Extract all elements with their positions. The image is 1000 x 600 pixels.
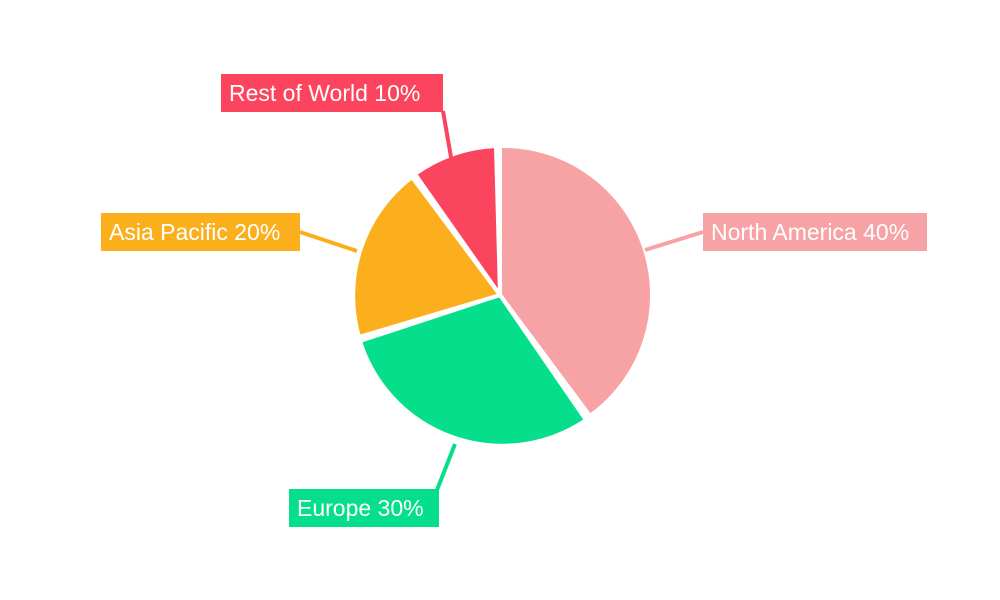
- leader-line-asia-pacific: [300, 232, 357, 251]
- pie-label-europe[interactable]: Europe 30%: [289, 489, 439, 527]
- pie-slices-group: [353, 146, 652, 446]
- leader-line-europe: [437, 444, 455, 490]
- pie-label-asia-pacific-text: Asia Pacific 20%: [109, 213, 280, 251]
- pie-label-europe-text: Europe 30%: [297, 489, 424, 527]
- pie-label-asia-pacific[interactable]: Asia Pacific 20%: [101, 213, 300, 251]
- pie-chart-canvas: [0, 0, 1000, 600]
- pie-chart-figure: North America 40% Europe 30% Asia Pacifi…: [0, 0, 1000, 600]
- pie-label-north-america[interactable]: North America 40%: [703, 213, 927, 251]
- pie-label-rest-of-world-text: Rest of World 10%: [229, 74, 420, 112]
- pie-label-north-america-text: North America 40%: [711, 213, 909, 251]
- pie-label-rest-of-world[interactable]: Rest of World 10%: [221, 74, 443, 112]
- leader-line-north-america: [645, 232, 703, 250]
